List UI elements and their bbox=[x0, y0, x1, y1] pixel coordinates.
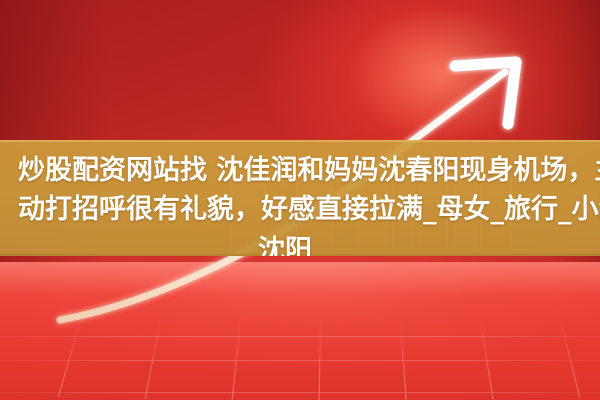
headline-text: 炒股配资网站找 沈佳润和妈妈沈春阳现身机场，主 动打招呼很有礼貌，好感直接拉满_… bbox=[0, 140, 600, 256]
headline-line-1: 炒股配资网站找 沈佳润和妈妈沈春阳现身机场，主 bbox=[18, 157, 600, 184]
headline-line-3: 沈阳 bbox=[258, 237, 312, 256]
banner-image: 炒股配资网站找 沈佳润和妈妈沈春阳现身机场，主 动打招呼很有礼貌，好感直接拉满_… bbox=[0, 0, 600, 400]
headline-line-2: 动打招呼很有礼貌，好感直接拉满_母女_旅行_小沈阳 bbox=[18, 196, 600, 223]
